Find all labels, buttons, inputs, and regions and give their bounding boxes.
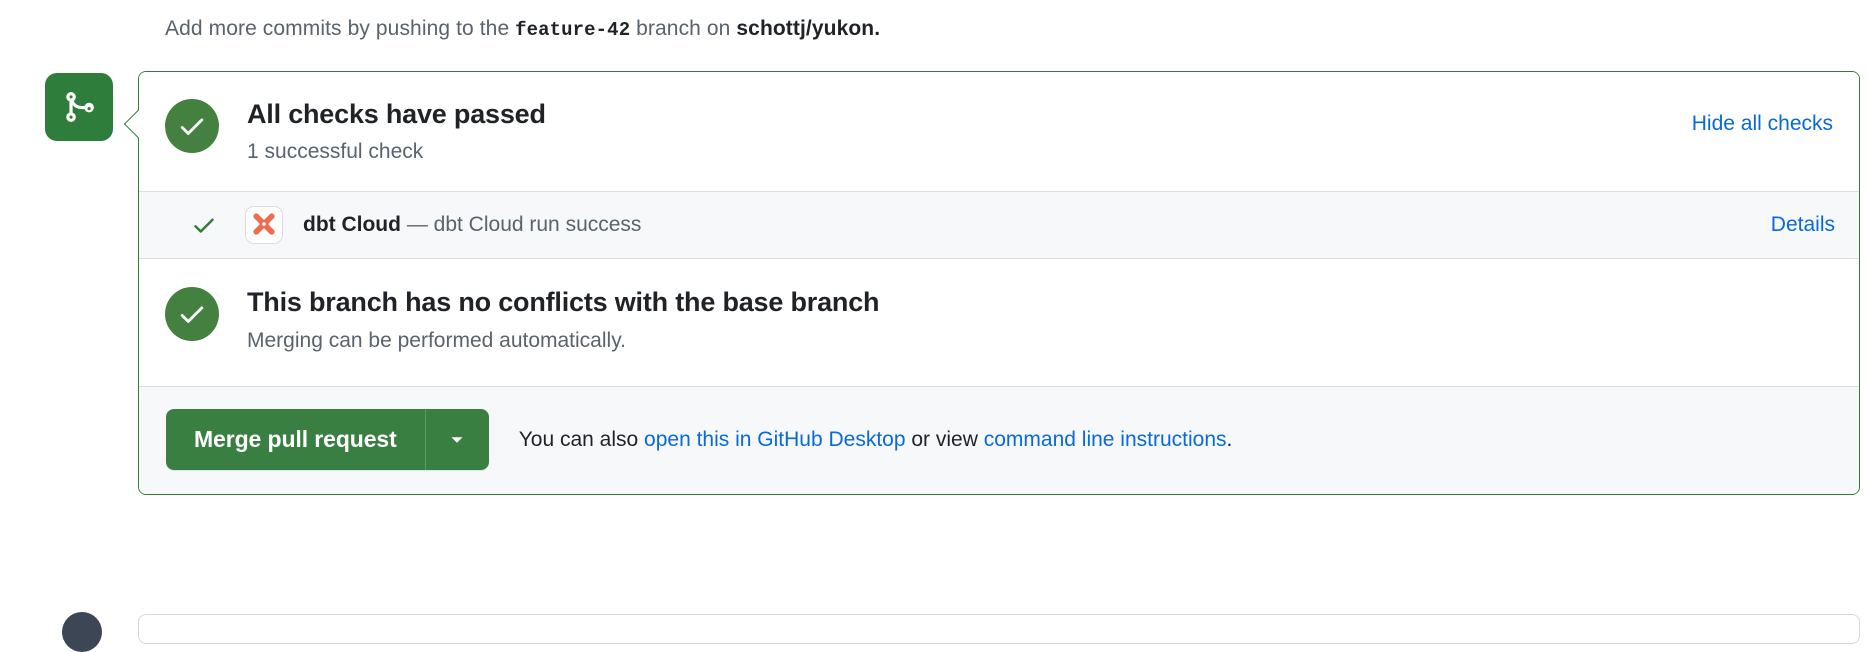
footer-note-middle: or view <box>911 428 978 451</box>
checks-summary-text: All checks have passed 1 successful chec… <box>247 97 1692 167</box>
conflicts-subtitle: Merging can be performed automatically. <box>247 326 879 356</box>
checks-summary-section: All checks have passed 1 successful chec… <box>139 72 1859 191</box>
merge-button-group: Merge pull request <box>166 409 489 470</box>
branch-name: feature-42 <box>515 19 630 41</box>
open-in-github-desktop-link[interactable]: open this in GitHub Desktop <box>644 428 905 451</box>
next-timeline-box <box>138 614 1860 644</box>
merge-pull-request-button[interactable]: Merge pull request <box>166 409 425 470</box>
box-arrow-connector <box>124 110 140 138</box>
check-details-container: Details <box>1771 210 1835 240</box>
footer-note-lead: You can also <box>519 428 639 451</box>
timeline-merge-badge <box>45 73 113 141</box>
merge-options-dropdown-button[interactable] <box>425 409 489 470</box>
git-merge-icon <box>62 90 96 124</box>
dbt-logo-glyph <box>249 210 279 240</box>
check-description: dbt Cloud run success <box>434 213 642 236</box>
chevron-down-icon <box>446 429 468 451</box>
merge-footer-note: You can also open this in GitHub Desktop… <box>519 425 1233 455</box>
check-row-status-icon <box>187 212 221 238</box>
conflicts-status-icon <box>165 287 219 341</box>
conflicts-section: This branch has no conflicts with the ba… <box>139 259 1859 387</box>
push-hint-period: . <box>874 17 880 40</box>
dbt-cloud-logo-icon <box>245 206 283 244</box>
check-icon <box>177 299 207 329</box>
check-row: dbt Cloud — dbt Cloud run success Detail… <box>139 191 1859 259</box>
merge-footer: Merge pull request You can also open thi… <box>139 387 1859 494</box>
conflicts-title: This branch has no conflicts with the ba… <box>247 285 879 319</box>
checks-subtitle: 1 successful check <box>247 137 1692 167</box>
command-line-instructions-link[interactable]: command line instructions <box>984 428 1227 451</box>
check-details-link[interactable]: Details <box>1771 213 1835 236</box>
checks-passed-status-icon <box>165 99 219 153</box>
hide-all-checks-container: Hide all checks <box>1692 109 1833 139</box>
merge-status-box: All checks have passed 1 successful chec… <box>138 71 1860 495</box>
next-timeline-avatar <box>62 612 102 652</box>
hide-all-checks-link[interactable]: Hide all checks <box>1692 112 1833 135</box>
check-dash: — <box>407 213 428 236</box>
check-row-label: dbt Cloud — dbt Cloud run success <box>303 210 1771 240</box>
push-hint-lead: Add more commits by pushing to the <box>165 17 509 40</box>
repository-name: schottj/yukon <box>736 17 874 40</box>
push-hint-middle: branch on <box>636 17 730 40</box>
check-icon <box>191 212 217 238</box>
check-app-name: dbt Cloud <box>303 213 401 236</box>
push-commits-hint: Add more commits by pushing to the featu… <box>165 14 880 45</box>
check-icon <box>177 111 207 141</box>
conflicts-text: This branch has no conflicts with the ba… <box>247 285 879 356</box>
footer-note-end: . <box>1227 428 1233 451</box>
checks-title: All checks have passed <box>247 97 1692 131</box>
